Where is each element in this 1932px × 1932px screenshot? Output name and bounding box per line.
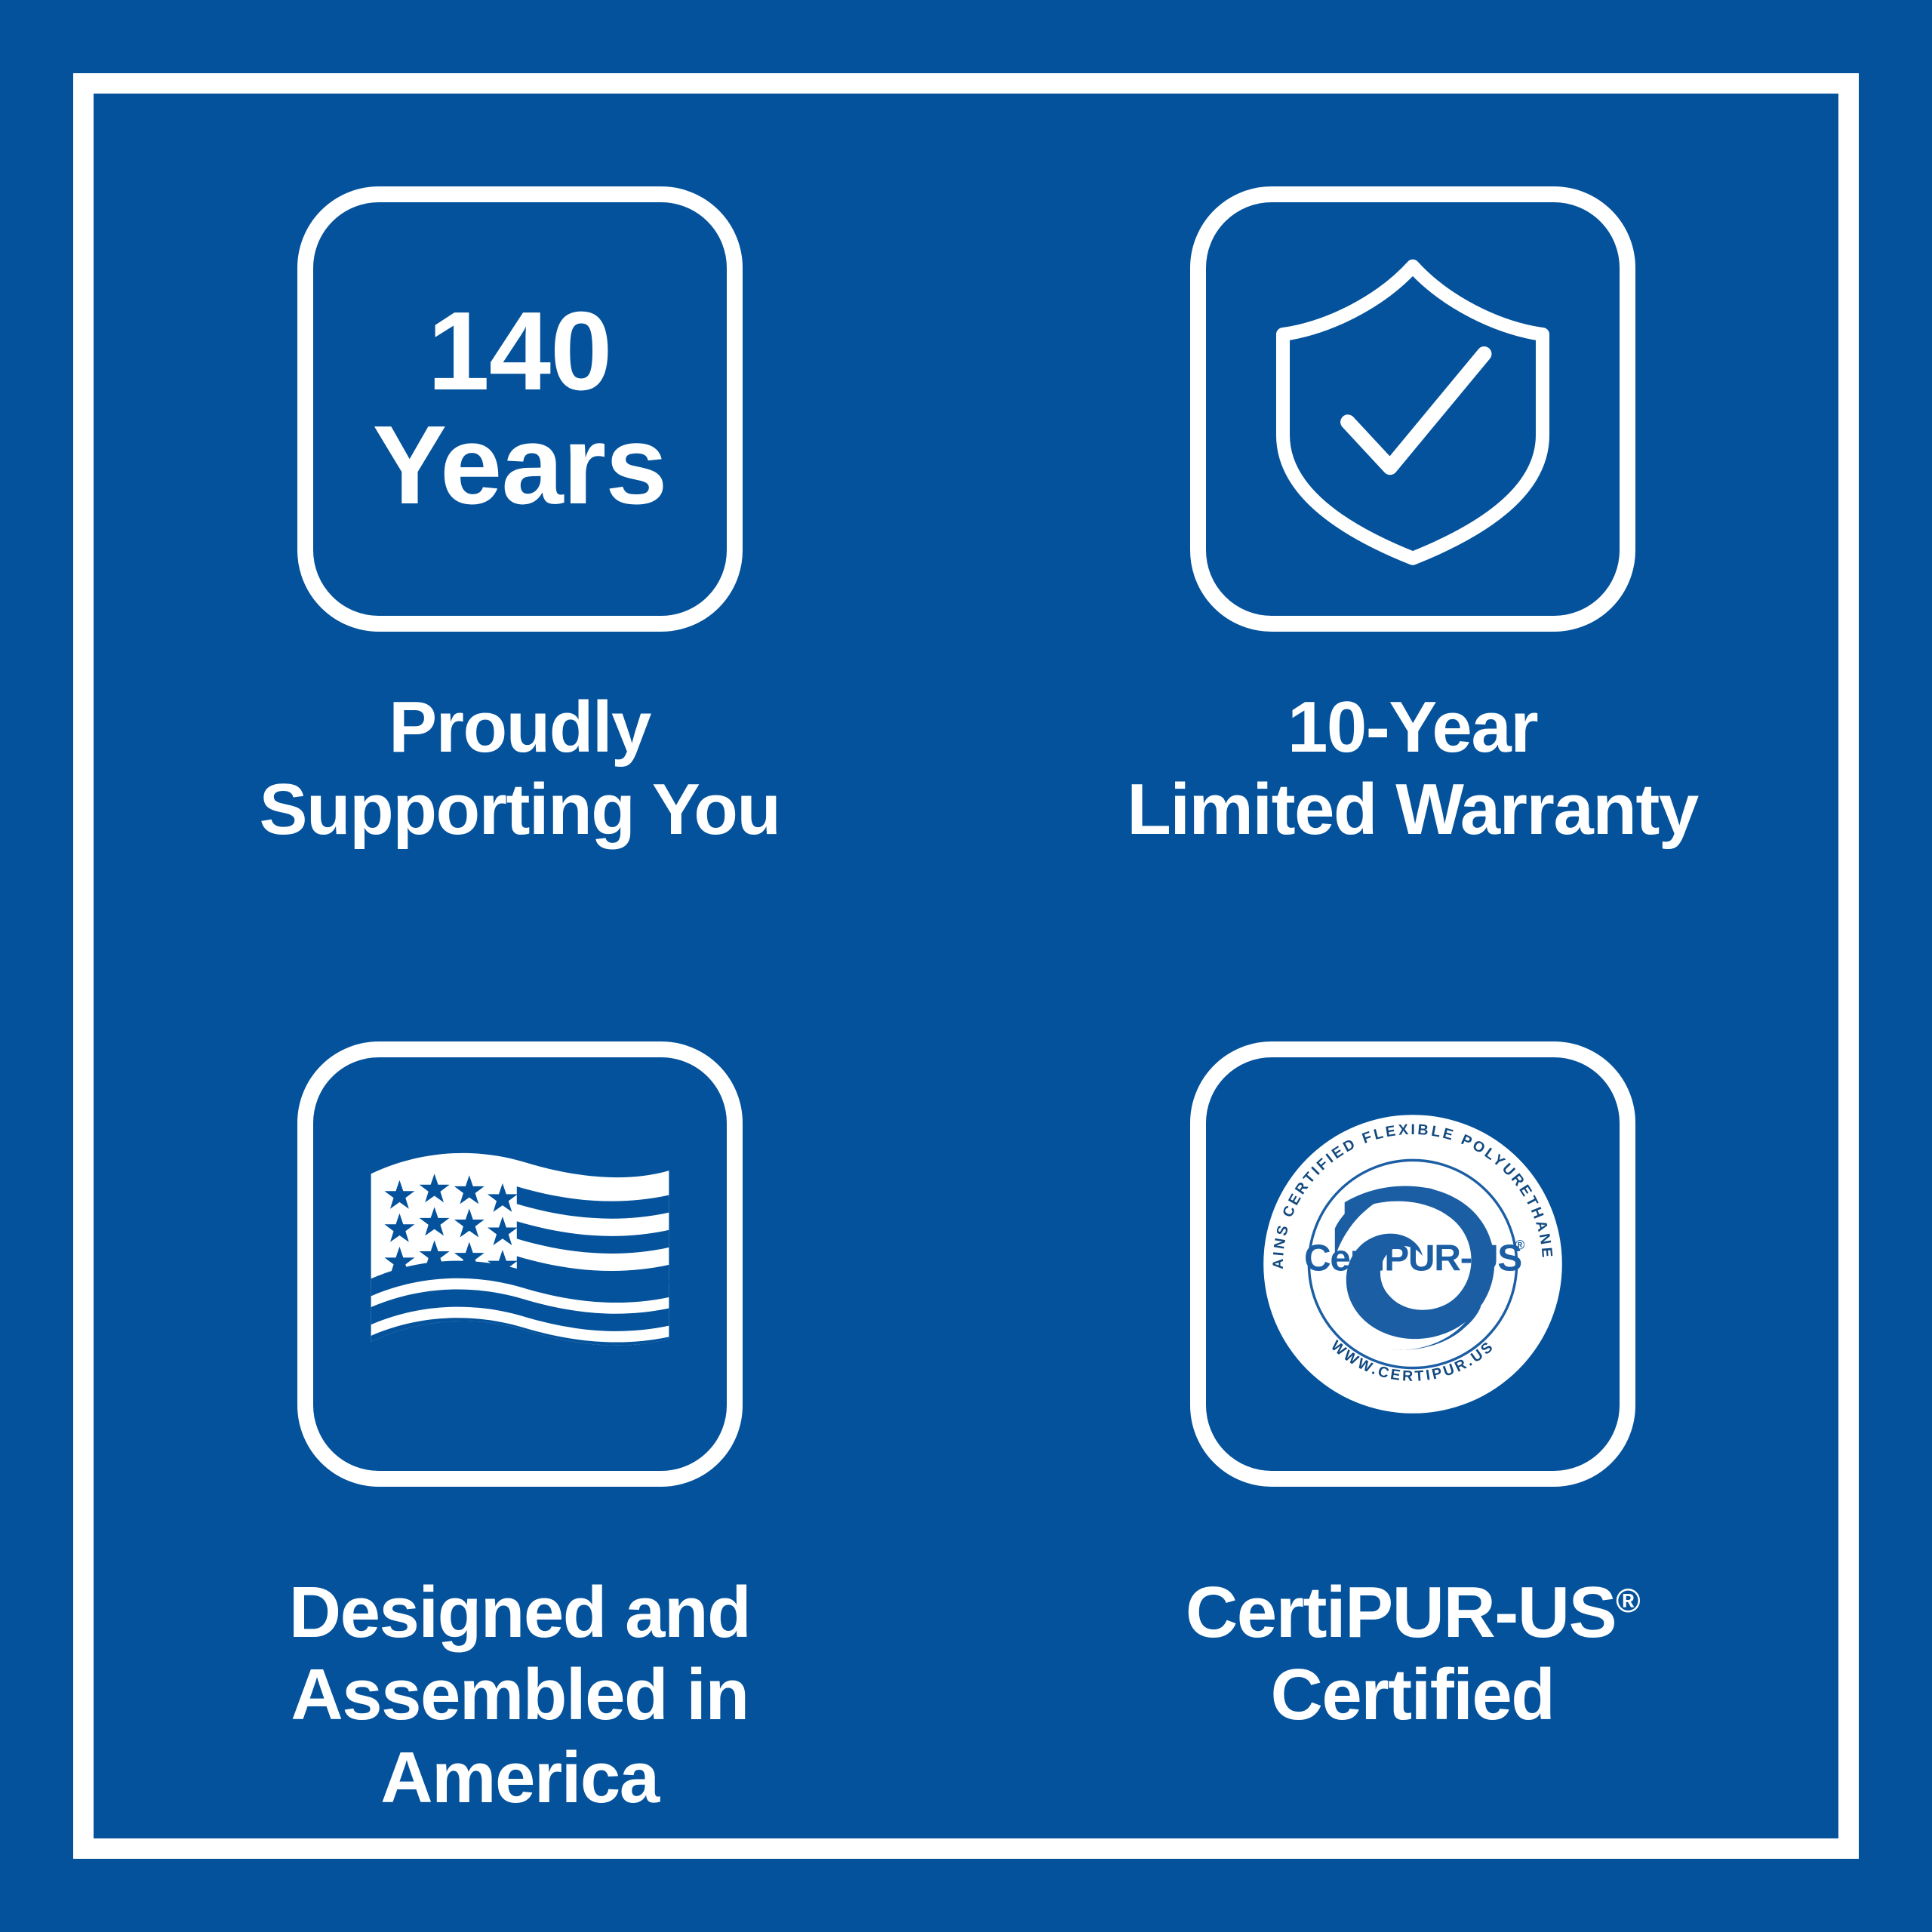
badge-caption-limited-warranty: 10-Year Limited Warranty	[1127, 686, 1698, 851]
years-word: Years	[372, 409, 666, 523]
usa-flag-icon	[361, 1140, 678, 1389]
badge-caption-designed-assembled-america: Designed and Assembled in America	[289, 1571, 750, 1819]
registered-mark: ®	[1616, 1583, 1639, 1620]
badge-caption-proudly-supporting-you: Proudly Supporting You	[260, 686, 780, 851]
certipur-us-seal-icon: CertiPUR-US ® CONTAINS CERTIFIED FLEXIBL…	[1251, 1102, 1575, 1426]
years-text-block: 140 Years	[372, 295, 666, 523]
badge-caption-certipur-certified: CertiPUR-US® Certified	[1186, 1571, 1639, 1737]
promo-panel: 140 Years Proudly Supporting You 10-Year…	[0, 0, 1932, 1932]
badge-designed-assembled-america: Designed and Assembled in America	[73, 966, 966, 1859]
years-number: 140	[372, 295, 666, 409]
140-years-badge-icon: 140 Years	[297, 186, 743, 632]
shield-check-icon-container	[1190, 186, 1635, 632]
shield-check-icon	[1251, 247, 1575, 571]
usa-flag-icon-container	[297, 1041, 743, 1487]
certipur-label: CertiPUR-US	[1186, 1572, 1616, 1653]
badge-certipur-us-certified: CertiPUR-US ® CONTAINS CERTIFIED FLEXIBL…	[966, 966, 1859, 1859]
certified-label: Certified	[1271, 1654, 1555, 1735]
seal-wordmark: CertiPUR-US	[1304, 1238, 1521, 1279]
badge-140-years: 140 Years Proudly Supporting You	[73, 73, 966, 966]
badge-10-year-warranty: 10-Year Limited Warranty	[966, 73, 1859, 966]
badge-grid: 140 Years Proudly Supporting You 10-Year…	[73, 73, 1859, 1859]
certipur-us-seal-icon-container: CertiPUR-US ® CONTAINS CERTIFIED FLEXIBL…	[1190, 1041, 1635, 1487]
seal-wordmark-registered: ®	[1515, 1238, 1524, 1253]
